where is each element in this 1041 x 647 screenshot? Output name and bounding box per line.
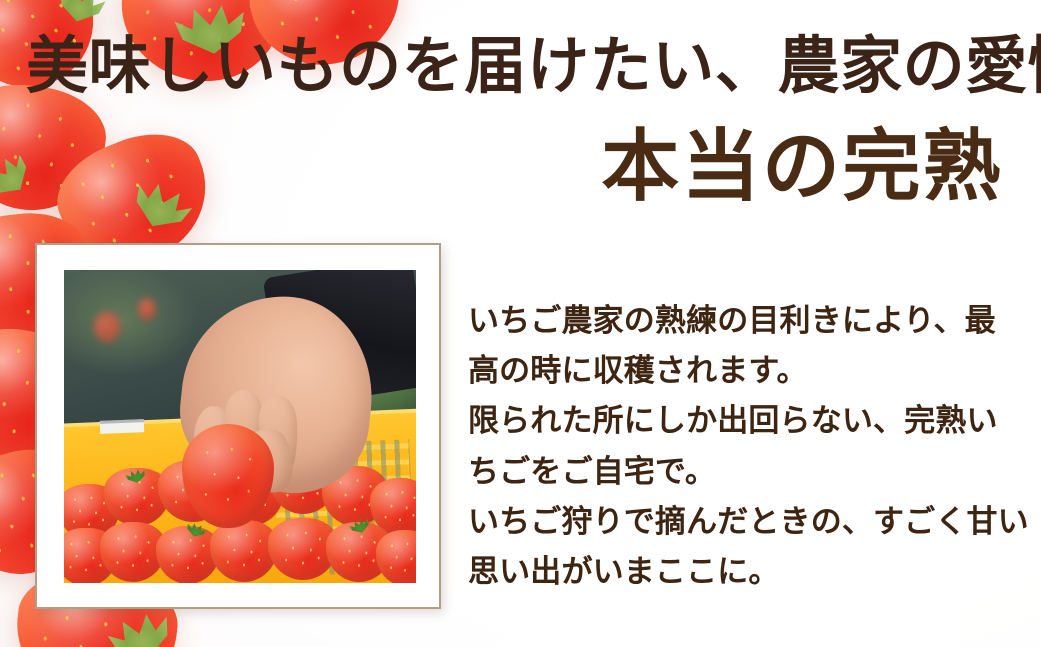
page-title: 美味しいものを届けたい、農家の愛情 bbox=[26, 36, 1041, 98]
photo-frame bbox=[35, 243, 441, 609]
body-line: いちご狩りで摘んだときの、すごく甘い bbox=[468, 497, 1028, 547]
body-copy: いちご農家の熟練の目利きにより、最 高の時に収穫されます。 限られた所にしか出回… bbox=[468, 296, 1028, 597]
page-subtitle: 本当の完熟 bbox=[601, 128, 1003, 206]
farmer-harvest-photo bbox=[64, 270, 416, 583]
body-line: ちごをご自宅で。 bbox=[468, 447, 1028, 497]
body-line: 高の時に収穫されます。 bbox=[468, 346, 1028, 396]
body-line: いちご農家の熟練の目利きにより、最 bbox=[468, 296, 1028, 346]
body-line: 思い出がいまここに。 bbox=[468, 547, 1028, 597]
body-line: 限られた所にしか出回らない、完熟い bbox=[468, 396, 1028, 446]
photo-blurred-berry bbox=[138, 298, 156, 320]
promo-banner: 美味しいものを届けたい、農家の愛情 本当の完熟 bbox=[0, 0, 1041, 647]
photo-blurred-berry bbox=[94, 312, 120, 342]
photo-crate-label bbox=[100, 419, 144, 434]
